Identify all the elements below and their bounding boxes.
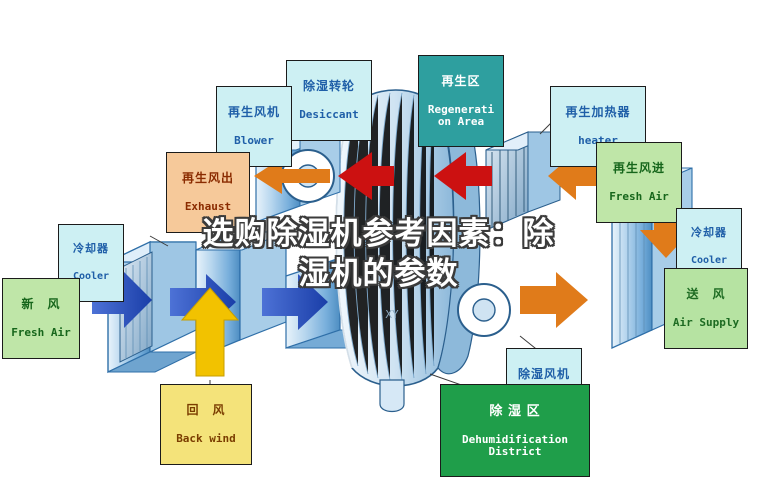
label-regeneration-heater-cn: 再生加热器: [554, 106, 642, 119]
label-regeneration-exhaust: 再生风出 Exhaust: [166, 152, 250, 233]
label-regen-fresh-en: Fresh Air: [600, 191, 678, 203]
label-regeneration-fresh-air-in: 再生风进 Fresh Air: [596, 142, 682, 223]
label-desiccant-wheel-cn: 除湿转轮: [290, 80, 368, 93]
label-dehumidification-district: 除 湿 区 Dehumidification District: [440, 384, 590, 477]
label-air-supply-cn: 送 风: [668, 288, 744, 301]
label-dehum-district-cn: 除 湿 区: [444, 404, 586, 418]
wheel-watermark: XY: [385, 308, 399, 321]
label-regeneration-exhaust-en: Exhaust: [170, 201, 246, 213]
arrow-supply-orange: [520, 272, 588, 328]
label-cooler-right-en: Cooler: [680, 256, 738, 267]
label-back-wind: 回 风 Back wind: [160, 384, 252, 465]
label-regeneration-blower-cn: 再生风机: [220, 106, 288, 119]
label-back-wind-en: Back wind: [164, 433, 248, 445]
label-desiccant-wheel: 除湿转轮 Desiccant: [286, 60, 372, 141]
label-regeneration-area-cn: 再生区: [422, 75, 500, 88]
label-back-wind-cn: 回 风: [164, 404, 248, 417]
label-fresh-air-en: Fresh Air: [6, 327, 76, 339]
label-fresh-air-cn: 新 风: [6, 298, 76, 311]
label-regeneration-blower-en: Blower: [220, 135, 288, 147]
label-regeneration-exhaust-cn: 再生风出: [170, 172, 246, 185]
diagram-canvas: XY: [0, 0, 757, 488]
label-dehum-district-en: Dehumidification District: [444, 434, 586, 457]
label-air-supply-en: Air Supply: [668, 317, 744, 329]
label-regen-fresh-cn: 再生风进: [600, 162, 678, 175]
label-fresh-air-inlet: 新 风 Fresh Air: [2, 278, 80, 359]
label-dehum-blower-cn: 除湿风机: [510, 368, 578, 381]
label-air-supply: 送 风 Air Supply: [664, 268, 748, 349]
label-cooler-right-cn: 冷却器: [680, 228, 738, 240]
label-regeneration-area-en: Regenerati on Area: [422, 104, 500, 127]
label-cooler-left-cn: 冷却器: [62, 244, 120, 256]
blower-lower: [458, 284, 510, 336]
label-regeneration-area: 再生区 Regenerati on Area: [418, 55, 504, 147]
label-desiccant-wheel-en: Desiccant: [290, 109, 368, 121]
